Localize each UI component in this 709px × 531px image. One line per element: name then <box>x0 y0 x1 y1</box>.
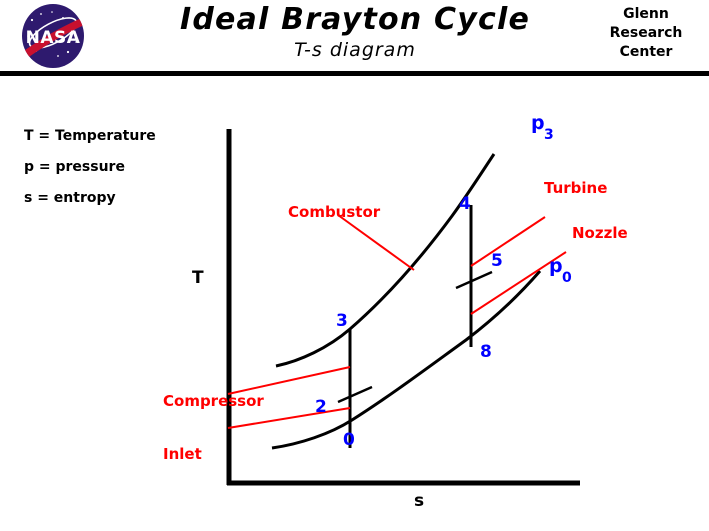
leader-line-turbine <box>471 217 545 266</box>
svg-text:p: p <box>531 112 545 134</box>
svg-text:p: p <box>549 255 563 277</box>
brayton-cycle-page: NASA Ideal Brayton Cycle T-s diagram Gle… <box>0 0 709 531</box>
research-center-name: Glenn Research Center <box>591 5 701 62</box>
nasa-logo: NASA <box>8 2 98 70</box>
svg-text:0: 0 <box>562 270 572 286</box>
y-axis-label: T <box>192 268 204 288</box>
svg-text:3: 3 <box>544 127 554 143</box>
leader-line-inlet <box>228 408 350 428</box>
state-point-3: 3 <box>336 311 348 331</box>
isobar-p0-curve <box>272 271 540 448</box>
page-title: Ideal Brayton Cycle <box>120 2 590 38</box>
state-tick-5 <box>456 272 492 288</box>
label-combustor: Combustor <box>288 203 381 221</box>
x-axis-label: s <box>414 491 424 511</box>
pressure-label-p3: p 3 <box>531 112 554 143</box>
center-line-3: Center <box>591 43 701 62</box>
svg-text:NASA: NASA <box>26 28 81 48</box>
label-nozzle: Nozzle <box>572 224 628 242</box>
leader-line-compressor <box>228 367 350 394</box>
label-compressor: Compressor <box>163 392 264 410</box>
state-point-2: 2 <box>315 397 327 417</box>
state-tick-2 <box>338 387 372 402</box>
ts-diagram: T s Compressor Inlet Combustor Turbine N… <box>0 76 709 531</box>
center-line-1: Glenn <box>591 5 701 24</box>
isobar-p3-curve <box>276 154 494 366</box>
leader-line-combustor <box>338 215 414 270</box>
label-turbine: Turbine <box>544 179 607 197</box>
label-inlet: Inlet <box>163 445 202 463</box>
center-line-2: Research <box>591 24 701 43</box>
pressure-label-p0: p 0 <box>549 255 572 286</box>
state-point-8: 8 <box>480 342 492 362</box>
page-subtitle: T-s diagram <box>120 38 590 62</box>
state-point-4: 4 <box>459 194 471 214</box>
state-point-5: 5 <box>491 251 503 271</box>
state-point-0: 0 <box>343 430 355 450</box>
title-block: Ideal Brayton Cycle T-s diagram <box>120 2 590 62</box>
